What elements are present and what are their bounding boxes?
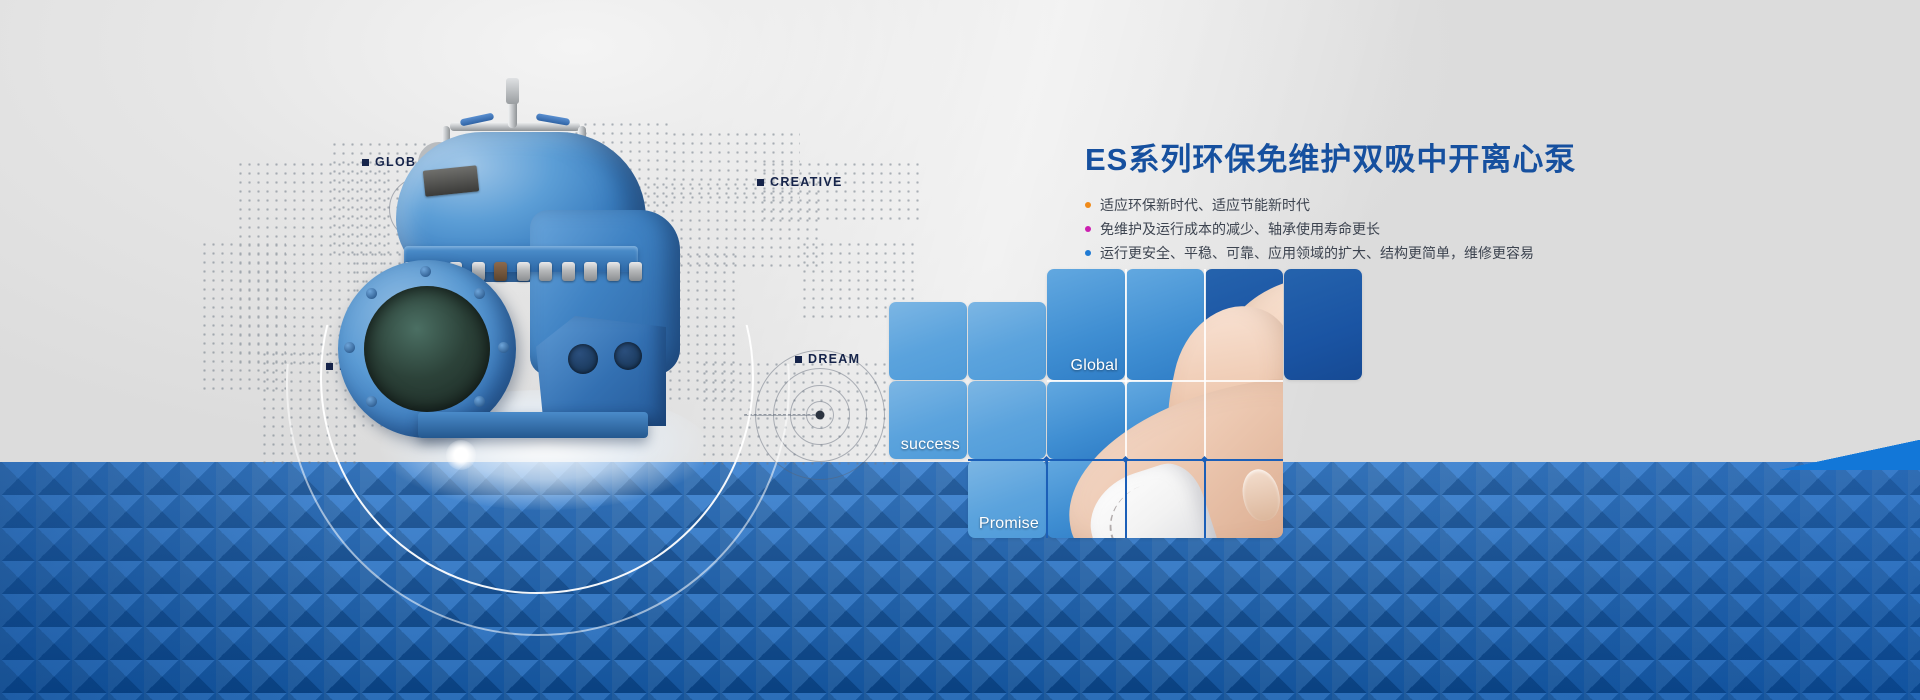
tile-blank-h <box>1284 269 1362 380</box>
tile-label: Global <box>1071 357 1118 375</box>
grid-seam-v3 <box>1046 459 1048 538</box>
tile-business: Business <box>1205 460 1283 538</box>
tile-community: Community <box>1126 381 1204 459</box>
feature-item: 免维护及运行成本的减少、轴承使用寿命更长 <box>1085 217 1725 241</box>
bullet-dot-icon <box>1085 250 1091 256</box>
tile-blank-c <box>968 381 1046 459</box>
grid-seam-v1 <box>1125 269 1127 459</box>
grid-seam-v5 <box>1204 459 1206 538</box>
tile-blank-f <box>1126 269 1204 380</box>
page-title: ES系列环保免维护双吸中开离心泵 <box>1085 142 1725 179</box>
tile-label: Society <box>1222 357 1276 375</box>
grid-seam-h1 <box>1047 380 1283 382</box>
tile-global: Global <box>1047 269 1125 380</box>
tile-label: success <box>901 436 960 454</box>
feature-list: 适应环保新时代、适应节能新时代 免维护及运行成本的减少、轴承使用寿命更长 运行更… <box>1085 193 1725 265</box>
tile-society: Society <box>1205 269 1283 380</box>
headline-block: ES系列环保免维护双吸中开离心泵 适应环保新时代、适应节能新时代 免维护及运行成… <box>1085 142 1725 265</box>
tile-label: Promise <box>979 515 1039 533</box>
tile-label: Community <box>1114 436 1197 454</box>
grid-seam-v2 <box>1204 269 1206 459</box>
feature-item: 运行更安全、平稳、可靠、应用领域的扩大、结构更简单，维修更容易 <box>1085 241 1725 265</box>
tile-promise: Promise <box>968 460 1046 538</box>
product-banner: GLOBAL CREATIVE DIGITAL DREAM <box>0 0 1920 700</box>
tile-blank-a <box>889 302 967 380</box>
map-label-text: CREATIVE <box>770 175 843 189</box>
feature-text: 适应环保新时代、适应节能新时代 <box>1100 193 1310 217</box>
product-image-pump <box>300 60 720 490</box>
map-label-text: DREAM <box>808 352 860 366</box>
feature-item: 适应环保新时代、适应节能新时代 <box>1085 193 1725 217</box>
square-bullet-icon <box>795 356 802 363</box>
map-label-creative: CREATIVE <box>757 175 843 189</box>
bullet-dot-icon <box>1085 226 1091 232</box>
tile-blank-e <box>1047 460 1125 538</box>
map-label-dream: DREAM <box>795 352 860 366</box>
bullet-dot-icon <box>1085 202 1091 208</box>
tile-label: Business <box>1209 515 1276 533</box>
tile-blank-g <box>1126 460 1204 538</box>
background-diagonal-accent <box>1780 440 1920 470</box>
grid-seam-v4 <box>1125 459 1127 538</box>
feature-text: 运行更安全、平稳、可靠、应用领域的扩大、结构更简单，维修更容易 <box>1100 241 1534 265</box>
valve-top <box>506 78 519 104</box>
feature-text: 免维护及运行成本的减少、轴承使用寿命更长 <box>1100 217 1380 241</box>
square-bullet-icon <box>757 179 764 186</box>
tile-blank-b <box>968 302 1046 380</box>
tile-success: success <box>889 381 967 459</box>
handshake-tile-mosaic: success Promise Global Community Society… <box>889 269 1589 571</box>
